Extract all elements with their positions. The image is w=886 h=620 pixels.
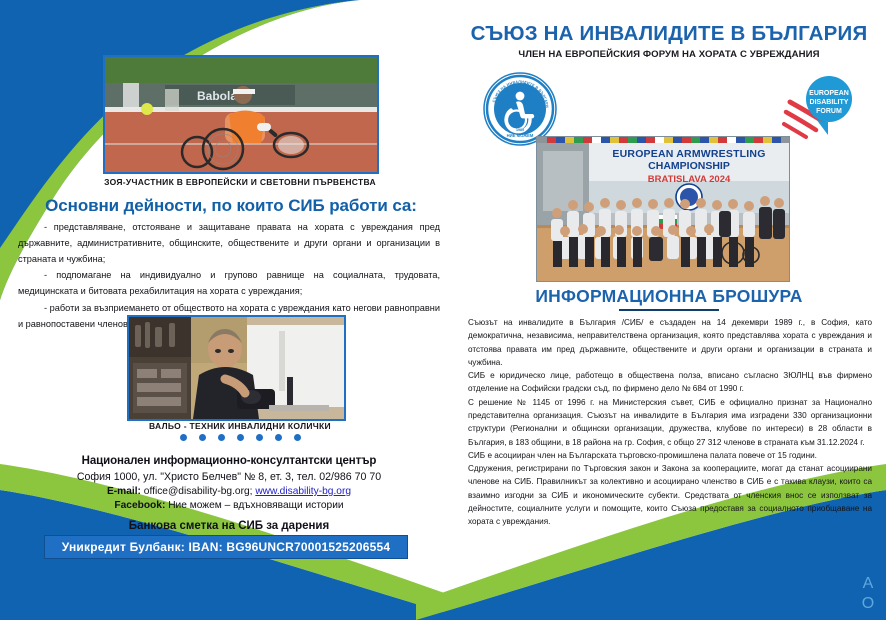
dot-separator [40, 434, 440, 441]
about-paragraph: СИБ е асоцииран член на Българската търг… [468, 449, 872, 462]
email-value[interactable]: office@disability-bg.org; [144, 486, 253, 497]
brochure-heading: ИНФОРМАЦИОННА БРОШУРА [452, 286, 886, 307]
separator-dot [218, 434, 225, 441]
about-paragraph: СИБ е юридическо лице, работещо в общест… [468, 369, 872, 396]
separator-dot [294, 434, 301, 441]
email-label: E-mail: [107, 486, 141, 497]
edge-vertical-letters: А О [852, 574, 884, 614]
contact-address: София 1000, ул. "Христо Белчев" № 8, ет.… [18, 471, 440, 483]
left-column: Babolat [0, 0, 452, 620]
contact-center-title: Национален информационно-консултантски ц… [18, 455, 440, 467]
about-paragraph: Съюзът на инвалидите в България /СИБ/ е … [468, 316, 872, 369]
brochure-page: Babolat [0, 0, 886, 620]
svg-text:EUROPEAN ARMWRESTLING: EUROPEAN ARMWRESTLING [612, 148, 765, 160]
svg-text:DISABILITY: DISABILITY [810, 99, 849, 106]
activities-heading: Основни дейности, по които СИБ работи са… [26, 196, 436, 216]
facebook-value: Ние можем – вдъхновяващи истории [168, 500, 343, 511]
separator-dot [237, 434, 244, 441]
contact-block: Национален информационно-консултантски ц… [18, 455, 440, 532]
caption-technician: ВАЛЬО - ТЕХНИК ИНВАЛИДНИ КОЛИЧКИ [40, 421, 440, 431]
about-body: Съюзът на инвалидите в България /СИБ/ е … [468, 316, 872, 529]
separator-dot [199, 434, 206, 441]
svg-text:CHAMPIONSHIP: CHAMPIONSHIP [648, 160, 730, 172]
activity-item: - подпомагане на индивидуално и групово … [18, 268, 440, 300]
svg-text:FORUM: FORUM [816, 108, 842, 115]
svg-text:1989: 1989 [516, 128, 524, 132]
website-link[interactable]: www.disability-bg.org [255, 486, 351, 497]
sib-logo-icon: НИЕ МОЖЕМ 1989 СЪЮЗ НА ИНВАЛИДИТЕ В БЪЛГ… [483, 72, 557, 146]
page-title: СЪЮЗ НА ИНВАЛИДИТЕ В БЪЛГАРИЯ [452, 22, 886, 46]
about-paragraph: Сдружения, регистрирани по Търговския за… [468, 462, 872, 528]
facebook-label: Facebook: [114, 500, 165, 511]
donations-title: Банкова сметка на СИБ за дарения [18, 520, 440, 532]
bank-account-bar: Уникредит Булбанк: IBAN: BG96UNCR7000152… [44, 535, 408, 559]
activity-item: - представляване, отстояване и защитаван… [18, 220, 440, 267]
page-subtitle: ЧЛЕН НА ЕВРОПЕЙСКИЯ ФОРУМ НА ХОРАТА С УВ… [452, 49, 886, 60]
photo-wheelchair-technician [127, 315, 346, 421]
caption-tennis: ЗОЯ-УЧАСТНИК В ЕВРОПЕЙСКИ И СВЕТОВНИ ПЪР… [40, 177, 440, 187]
contact-email-row: E-mail: office@disability-bg.org; www.di… [18, 486, 440, 497]
photo-wheelchair-tennis: Babolat [103, 55, 379, 174]
separator-dot [180, 434, 187, 441]
separator-dot [275, 434, 282, 441]
right-column: СЪЮЗ НА ИНВАЛИДИТЕ В БЪЛГАРИЯ ЧЛЕН НА ЕВ… [452, 0, 886, 620]
heading-underline [619, 309, 719, 311]
edf-logo-icon: EUROPEAN DISABILITY FORUM [782, 72, 858, 144]
about-paragraph: С решение № 1145 от 1996 г. на Министерс… [468, 396, 872, 449]
photo-armwrestling-team: EUROPEAN ARMWRESTLING CHAMPIONSHIP BRATI… [536, 136, 790, 282]
svg-text:EUROPEAN: EUROPEAN [809, 90, 849, 97]
bank-account-text: Уникредит Булбанк: IBAN: BG96UNCR7000152… [62, 540, 390, 554]
separator-dot [256, 434, 263, 441]
contact-facebook-row: Facebook: Ние можем – вдъхновяващи истор… [18, 500, 440, 511]
svg-text:НИЕ МОЖЕМ: НИЕ МОЖЕМ [507, 133, 534, 138]
